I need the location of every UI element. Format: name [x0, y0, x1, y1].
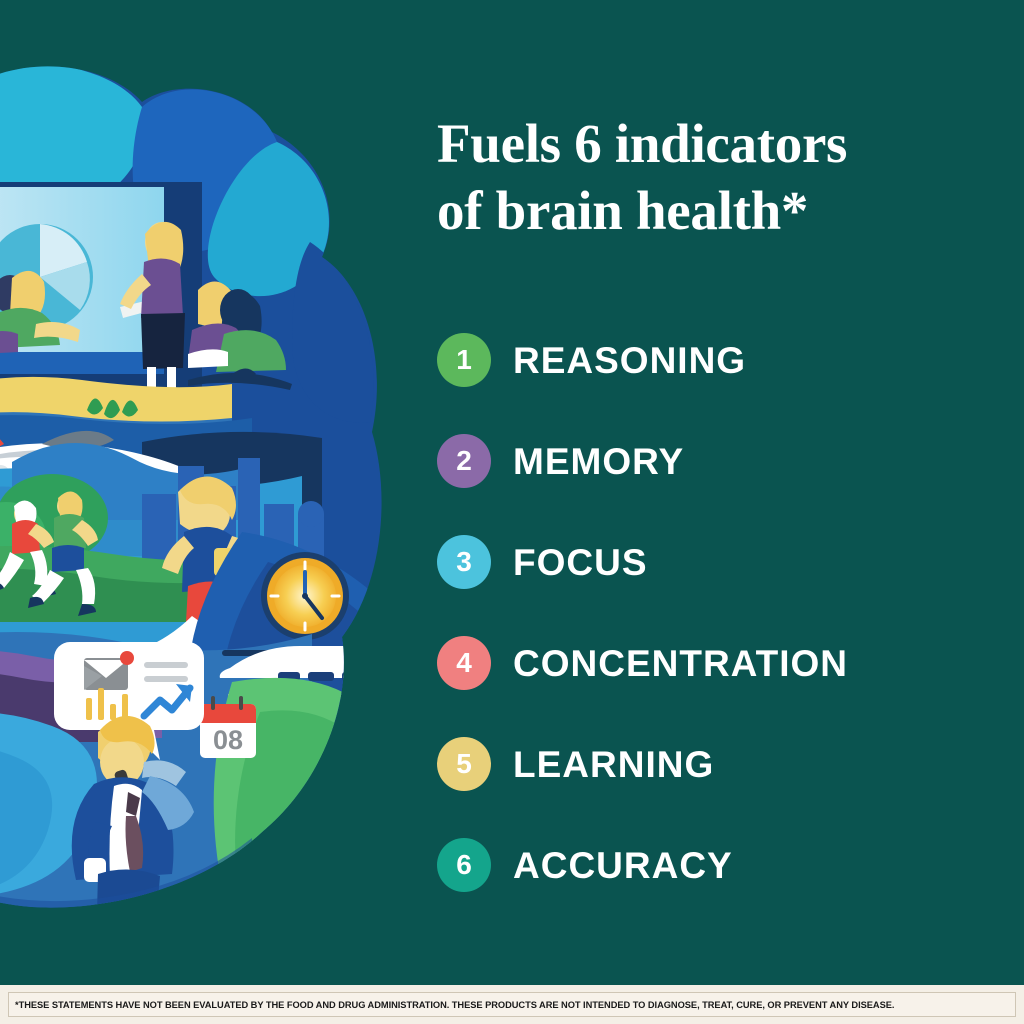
indicator-number-badge-1: 1	[437, 333, 491, 387]
indicator-number-badge-5: 5	[437, 737, 491, 791]
brain-illustration: 08	[0, 62, 392, 922]
brain-collage-svg: 08	[0, 62, 392, 922]
indicator-item-concentration[interactable]: 4 CONCENTRATION	[437, 628, 1017, 698]
indicator-label-3: FOCUS	[513, 544, 648, 581]
notification-dot	[120, 651, 134, 665]
disclaimer-bar: *THESE STATEMENTS HAVE NOT BEEN EVALUATE…	[0, 983, 1024, 1024]
indicator-item-reasoning[interactable]: 1 REASONING	[437, 325, 1017, 395]
calendar-icon: 08	[200, 696, 256, 758]
page-title: Fuels 6 indicators of brain health*	[437, 110, 1007, 244]
commute-scene: 08	[0, 632, 392, 922]
clock-icon	[261, 552, 349, 640]
indicator-number-badge-2: 2	[437, 434, 491, 488]
indicator-label-6: ACCURACY	[513, 847, 733, 884]
indicator-number-badge-3: 3	[437, 535, 491, 589]
indicator-label-2: MEMORY	[513, 443, 684, 480]
indicator-label-5: LEARNING	[513, 746, 714, 783]
indicator-item-focus[interactable]: 3 FOCUS	[437, 527, 1017, 597]
indicator-item-learning[interactable]: 5 LEARNING	[437, 729, 1017, 799]
indicator-number-badge-4: 4	[437, 636, 491, 690]
infographic-page: 08	[0, 0, 1024, 1024]
disclaimer-text: *THESE STATEMENTS HAVE NOT BEEN EVALUATE…	[15, 1000, 894, 1010]
indicator-item-accuracy[interactable]: 6 ACCURACY	[437, 830, 1017, 900]
indicator-number-badge-6: 6	[437, 838, 491, 892]
indicator-label-1: REASONING	[513, 342, 746, 379]
indicator-list: 1 REASONING 2 MEMORY 3 FOCUS 4 CONCENTRA…	[437, 325, 1017, 931]
calendar-day-label: 08	[213, 725, 243, 755]
indicator-item-memory[interactable]: 2 MEMORY	[437, 426, 1017, 496]
indicator-label-4: CONCENTRATION	[513, 645, 848, 682]
brain-shape-group: 08	[0, 62, 392, 922]
disclaimer-box: *THESE STATEMENTS HAVE NOT BEEN EVALUATE…	[8, 992, 1016, 1017]
headline-block: Fuels 6 indicators of brain health*	[437, 110, 1007, 244]
